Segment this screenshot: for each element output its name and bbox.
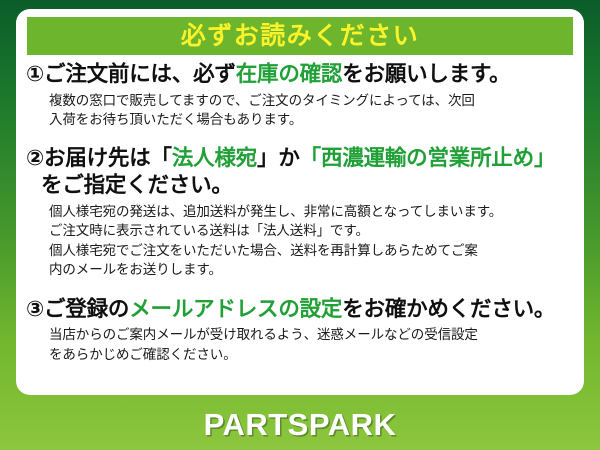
notice-item-3: ③ご登録のメールアドレスの設定をお確かめください。 当店からのご案内メールが受け… [16,296,584,365]
notice-item-list: ①ご注文前には、必ず在庫の確認をお願いします。 複数の窓口で販売してますので、ご… [16,61,584,365]
notice-item-2-heading: ②お届け先は「法人様宛」か「西濃運輸の営業所止め」をご指定ください。 [26,145,574,200]
page-title: 必ずお読みください [181,24,420,49]
notice-item-3-subtext: 当店からのご案内メールが受け取れるよう、迷惑メールなどの受信設定 をあらかじめご… [26,325,574,364]
brand-footer: PARTSPARK [0,398,600,450]
notice-item-1-head-part1: ご注文前には、必ず [44,62,236,86]
notice-item-2-highlight-2: 「西濃運輸の営業所止め」 [300,146,556,170]
notice-item-2-highlight-1: 法人様宛 [172,146,257,170]
notice-item-3-highlight: メールアドレスの設定 [129,297,342,321]
notice-item-2: ②お届け先は「法人様宛」か「西濃運輸の営業所止め」をご指定ください。 個人様宅宛… [16,145,584,280]
notice-item-2-subline-2: ご注文時に表示されている送料は「法人送料」です。 [49,221,574,241]
notice-item-2-head-part2: か [278,146,299,170]
notice-item-2-head-part3: をご指定ください。 [26,172,233,200]
notice-item-1-head-part2: をお願いします。 [342,62,510,86]
notice-item-2-marker: ② [26,146,44,170]
notice-item-3-subline-1: 当店からのご案内メールが受け取れるよう、迷惑メールなどの受信設定 [49,325,574,345]
notice-item-2-bracket-open-1: 「 [151,146,172,170]
notice-item-1-subline-1: 複数の窓口で販売してますので、ご注文のタイミングによっては、次回 [49,91,574,111]
title-banner: 必ずお読みください [27,17,573,55]
notice-item-1-heading: ①ご注文前には、必ず在庫の確認をお願いします。 [26,61,574,89]
notice-item-2-head-part1: お届け先は [44,146,151,170]
notice-item-1-subtext: 複数の窓口で販売してますので、ご注文のタイミングによっては、次回 入荷をお待ち頂… [26,91,574,130]
notice-card: 必ずお読みください ①ご注文前には、必ず在庫の確認をお願いします。 複数の窓口で… [16,9,584,395]
notice-item-2-bracket-close-1: 」 [257,146,278,170]
notice-item-3-head-part1: ご登録の [44,297,129,321]
notice-item-3-marker: ③ [26,297,44,321]
notice-item-1-marker: ① [26,62,44,86]
notice-item-1-subline-2: 入荷をお待ち頂いただく場合もあります。 [49,110,574,130]
notice-item-2-subline-3: 個人様宅宛でご注文をいただいた場合、送料を再計算しあらためてご案 [49,241,574,261]
notice-item-2-subtext: 個人様宅宛の発送は、追加送料が発生し、非常に高額となってしまいます。 ご注文時に… [26,202,574,280]
notice-item-1-highlight: 在庫の確認 [236,62,343,86]
notice-item-2-subline-1: 個人様宅宛の発送は、追加送料が発生し、非常に高額となってしまいます。 [49,202,574,222]
notice-item-2-subline-4: 内のメールをお送りします。 [49,260,574,280]
notice-item-3-heading: ③ご登録のメールアドレスの設定をお確かめください。 [26,296,574,324]
brand-name: PARTSPARK [204,409,397,440]
notice-item-3-subline-2: をあらかじめご確認ください。 [49,345,574,365]
notice-item-3-head-part2: をお確かめください。 [342,297,555,321]
notice-frame: 必ずお読みください ①ご注文前には、必ず在庫の確認をお願いします。 複数の窓口で… [0,0,600,450]
notice-item-1: ①ご注文前には、必ず在庫の確認をお願いします。 複数の窓口で販売してますので、ご… [16,61,584,130]
